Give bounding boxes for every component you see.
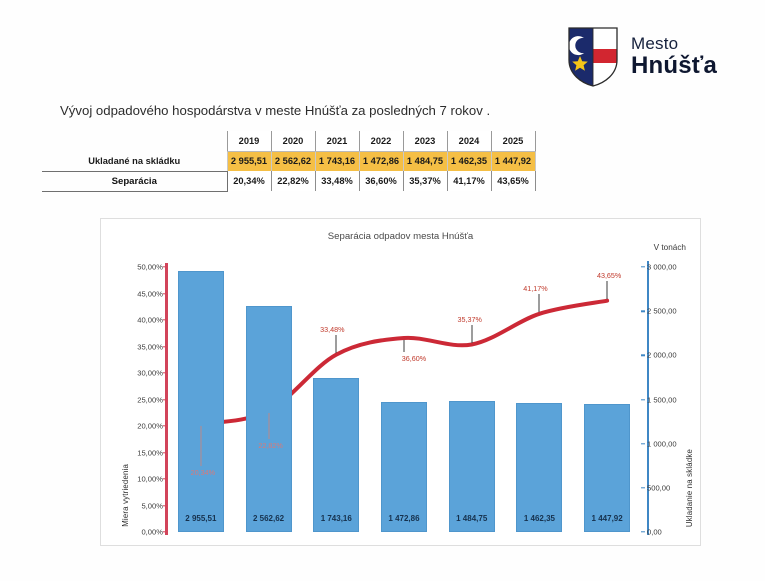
cell-separation-2021: 33,48%: [315, 171, 359, 191]
left-axis-title: Miera vytriedenia: [121, 464, 130, 527]
right-axis-title: Ukladanie na skládke: [685, 449, 694, 527]
left-axis-tickmark: [163, 531, 167, 532]
bar-2025: 1 447,92: [584, 404, 630, 532]
right-axis-tickmark: [641, 443, 645, 444]
label-leader-line: [336, 335, 337, 353]
left-axis-tick: 15,00%: [137, 448, 163, 457]
cell-landfill-2023: 1 484,75: [403, 151, 447, 171]
right-axis-tickmark: [641, 266, 645, 267]
bar-2019: 2 955,51: [178, 271, 224, 532]
left-axis-tick: 30,00%: [137, 369, 163, 378]
right-axis-tick: 2 500,00: [647, 307, 677, 316]
city-logo: Mesto Hnúšťa: [567, 26, 717, 88]
left-axis-tickmark: [163, 452, 167, 453]
bar-2024: 1 462,35: [516, 403, 562, 532]
cell-separation-2022: 36,60%: [359, 171, 403, 191]
row-label-separation: Separácia: [42, 171, 227, 191]
left-axis-tick: 5,00%: [141, 501, 163, 510]
logo-mesto: Mesto: [631, 35, 717, 53]
year-header-0: 2019: [227, 131, 271, 151]
logo-city: Hnúšťa: [631, 53, 717, 78]
label-leader-line: [471, 325, 472, 343]
bar-value-label: 1 743,16: [314, 514, 358, 523]
right-axis-tickmark: [641, 531, 645, 532]
year-header-1: 2020: [271, 131, 315, 151]
logo-text: Mesto Hnúšťa: [631, 35, 717, 78]
row-label-landfill: Ukladané na skládku: [42, 151, 227, 171]
left-axis-tick: 50,00%: [137, 263, 163, 272]
document-page: Mesto Hnúšťa Vývoj odpadového hospodárst…: [0, 0, 765, 581]
bar-value-label: 1 472,86: [382, 514, 426, 523]
left-axis-tickmark: [163, 425, 167, 426]
cell-landfill-2025: 1 447,92: [491, 151, 535, 171]
bar-value-label: 1 484,75: [450, 514, 494, 523]
chart-container: Separácia odpadov mesta Hnúšťa V tonách …: [100, 218, 701, 546]
plot-area: 0,00%5,00%10,00%15,00%20,00%25,00%30,00%…: [167, 267, 641, 532]
chart-units-note: V tonách: [654, 243, 686, 252]
right-axis-tick: 500,00: [647, 483, 670, 492]
left-axis-tick: 25,00%: [137, 395, 163, 404]
coat-of-arms-icon: [567, 26, 619, 88]
line-value-label: 22,82%: [258, 441, 282, 450]
bar-2022: 1 472,86: [381, 402, 427, 532]
line-value-label: 41,17%: [523, 284, 547, 293]
table-row: Ukladané na skládku 2 955,51 2 562,62 1 …: [42, 151, 535, 171]
bar-2021: 1 743,16: [313, 378, 359, 532]
year-header-2: 2021: [315, 131, 359, 151]
label-leader-line: [607, 281, 608, 299]
label-leader-line: [539, 294, 540, 312]
left-axis-tickmark: [163, 346, 167, 347]
left-axis-tickmark: [163, 293, 167, 294]
table-row: Separácia 20,34% 22,82% 33,48% 36,60% 35…: [42, 171, 535, 191]
cell-separation-2025: 43,65%: [491, 171, 535, 191]
right-axis-tickmark: [641, 399, 645, 400]
line-value-label: 36,60%: [402, 354, 426, 363]
left-axis-tick: 40,00%: [137, 316, 163, 325]
right-axis-tickmark: [641, 355, 645, 356]
left-axis-tick: 20,00%: [137, 422, 163, 431]
year-header-5: 2024: [447, 131, 491, 151]
cell-landfill-2019: 2 955,51: [227, 151, 271, 171]
cell-landfill-2022: 1 472,86: [359, 151, 403, 171]
left-axis-tick: 45,00%: [137, 289, 163, 298]
right-axis-tick: 3 000,00: [647, 263, 677, 272]
table-header-row: 2019 2020 2021 2022 2023 2024 2025: [42, 131, 535, 151]
right-axis-tickmark: [641, 310, 645, 311]
left-axis-tickmark: [163, 505, 167, 506]
cell-landfill-2024: 1 462,35: [447, 151, 491, 171]
line-value-label: 20,34%: [191, 468, 215, 477]
bar-2023: 1 484,75: [449, 401, 495, 532]
year-header-4: 2023: [403, 131, 447, 151]
label-leader-line: [200, 426, 201, 466]
bar-value-label: 1 462,35: [517, 514, 561, 523]
left-axis-tickmark: [163, 478, 167, 479]
label-leader-line: [268, 413, 269, 439]
left-axis-tickmark: [163, 319, 167, 320]
year-header-3: 2022: [359, 131, 403, 151]
bar-value-label: 2 562,62: [247, 514, 291, 523]
left-axis-tickmark: [163, 399, 167, 400]
right-axis-tick: 2 000,00: [647, 351, 677, 360]
line-value-label: 35,37%: [458, 315, 482, 324]
bar-value-label: 2 955,51: [179, 514, 223, 523]
left-axis-tickmark: [163, 372, 167, 373]
bar-value-label: 1 447,92: [585, 514, 629, 523]
right-axis-tick: 0,00: [647, 528, 662, 537]
right-axis-tick: 1 000,00: [647, 439, 677, 448]
cell-landfill-2020: 2 562,62: [271, 151, 315, 171]
page-title: Vývoj odpadového hospodárstva v meste Hn…: [60, 103, 490, 118]
cell-separation-2020: 22,82%: [271, 171, 315, 191]
chart-title: Separácia odpadov mesta Hnúšťa: [101, 231, 700, 242]
summary-table: 2019 2020 2021 2022 2023 2024 2025 Uklad…: [42, 131, 536, 192]
left-axis-tick: 10,00%: [137, 475, 163, 484]
label-leader-line: [404, 340, 405, 352]
cell-separation-2023: 35,37%: [403, 171, 447, 191]
line-value-label: 43,65%: [597, 271, 621, 280]
right-axis-tickmark: [641, 487, 645, 488]
right-axis-tick: 1 500,00: [647, 395, 677, 404]
cell-separation-2024: 41,17%: [447, 171, 491, 191]
year-header-6: 2025: [491, 131, 535, 151]
line-value-label: 33,48%: [320, 325, 344, 334]
cell-separation-2019: 20,34%: [227, 171, 271, 191]
cell-landfill-2021: 1 743,16: [315, 151, 359, 171]
left-axis-tick: 0,00%: [141, 528, 163, 537]
left-axis-tick: 35,00%: [137, 342, 163, 351]
left-axis-tickmark: [163, 266, 167, 267]
